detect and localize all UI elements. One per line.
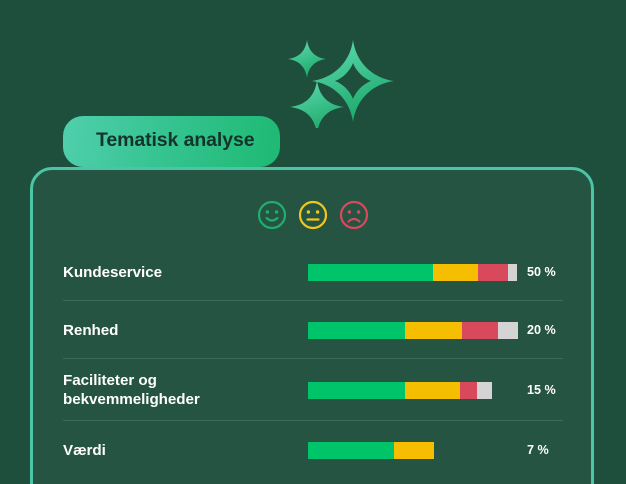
theme-label: Faciliteter ogbekvemmeligheder <box>63 371 308 409</box>
sentiment-bar <box>308 264 517 281</box>
bar-segment-positive <box>308 382 405 399</box>
theme-label: Kundeservice <box>63 263 308 282</box>
bar-segment-neutral <box>405 322 462 339</box>
bar-segment-negative <box>462 322 498 339</box>
bar-segment-neutral <box>405 382 460 399</box>
bar-segment-unrated <box>508 264 517 281</box>
percent-value: 7 % <box>527 443 549 457</box>
smiley-neutral-icon[interactable] <box>297 199 329 231</box>
table-row[interactable]: Renhed20 % <box>63 301 563 359</box>
percent-value: 15 % <box>527 383 556 397</box>
bar-segment-neutral <box>394 442 434 459</box>
bar-segment-positive <box>308 442 394 459</box>
table-row[interactable]: Kundeservice50 % <box>63 243 563 301</box>
bar-segment-positive <box>308 264 433 281</box>
sentiment-legend <box>256 199 370 231</box>
bar-segment-unrated <box>498 322 518 339</box>
table-row[interactable]: Værdi7 % <box>63 421 563 479</box>
sentiment-bar <box>308 382 492 399</box>
percent-value: 20 % <box>527 323 556 337</box>
theme-rows: Kundeservice50 %Renhed20 %Faciliteter og… <box>63 243 563 479</box>
sentiment-bar <box>308 322 518 339</box>
smiley-positive-icon[interactable] <box>256 199 288 231</box>
theme-label: Renhed <box>63 321 308 340</box>
smiley-negative-icon[interactable] <box>338 199 370 231</box>
sentiment-bar <box>308 442 434 459</box>
bar-segment-negative <box>460 382 477 399</box>
bar-segment-unrated <box>477 382 492 399</box>
bar-segment-negative <box>478 264 508 281</box>
table-row[interactable]: Faciliteter ogbekvemmeligheder15 % <box>63 359 563 421</box>
bar-segment-positive <box>308 322 405 339</box>
sparkle-icon <box>288 36 396 128</box>
percent-value: 50 % <box>527 265 556 279</box>
bar-segment-neutral <box>433 264 478 281</box>
sparkle-decoration <box>288 36 396 128</box>
page-title-badge: Tematisk analyse <box>63 116 280 167</box>
theme-label: Værdi <box>63 441 308 460</box>
